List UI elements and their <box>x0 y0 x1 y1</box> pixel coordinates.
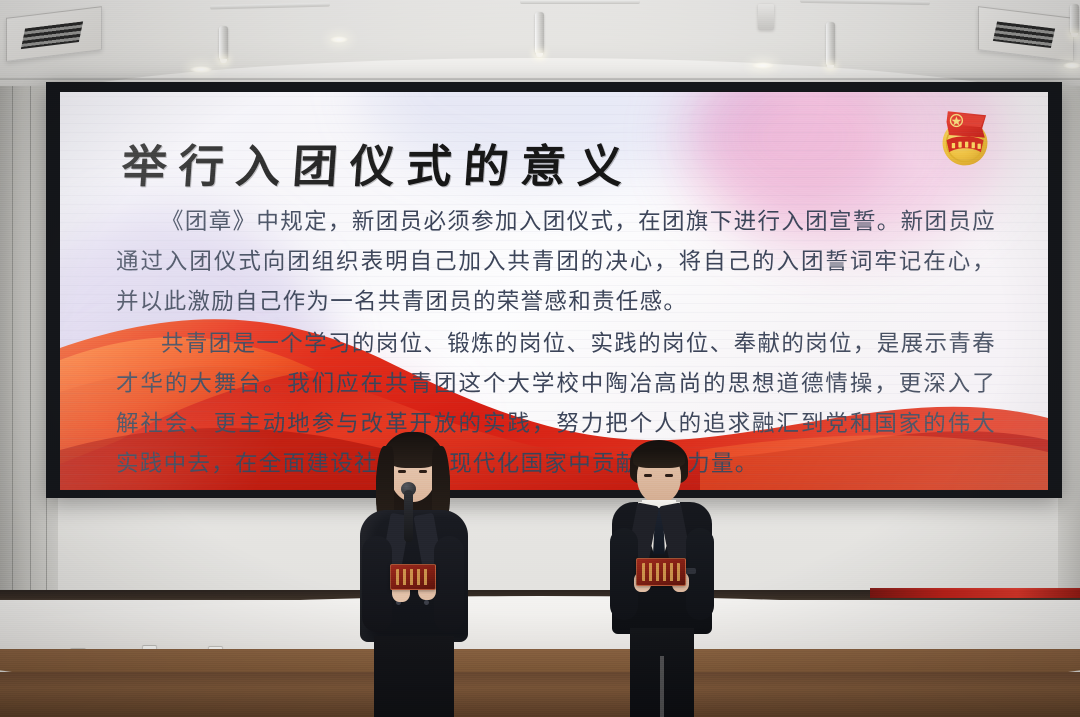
red-membership-card <box>636 558 686 586</box>
microphone-icon <box>404 490 413 542</box>
eye-left <box>398 470 406 473</box>
ceiling-downlight-icon <box>190 66 212 73</box>
ceiling-speaker-icon <box>758 4 774 30</box>
card-gold-text <box>642 563 680 581</box>
arm-right <box>434 536 464 632</box>
ceiling-downlight-icon <box>752 62 774 69</box>
leg-gap <box>660 656 664 717</box>
wall-seam <box>12 86 13 646</box>
track-spotlight-icon <box>535 12 544 54</box>
female-presenter <box>352 432 474 717</box>
eye-right <box>419 470 427 473</box>
vent-grille <box>993 21 1055 48</box>
black-skirt <box>374 636 454 717</box>
arm-right <box>686 528 714 620</box>
track-spotlight-icon <box>1070 4 1079 34</box>
led-screen-display[interactable]: 举行入团仪式的意义 《团章》中规定，新团员必须参加入团仪式，在团旗下进行入团宣誓… <box>60 92 1048 490</box>
stage-floor <box>0 672 1080 717</box>
eye-right <box>665 474 673 477</box>
vent-grille <box>21 21 83 49</box>
eye-left <box>644 474 652 477</box>
slide-title: 举行入团仪式的意义 <box>120 130 638 195</box>
led-screen-bezel: 举行入团仪式的意义 《团章》中规定，新团员必须参加入团仪式，在团旗下进行入团宣誓… <box>46 82 1062 498</box>
hair-fringe <box>633 448 685 468</box>
slide-paragraph-2: 共青团是一个学习的岗位、锻炼的岗位、实践的岗位、奉献的岗位，是展示青春才华的大舞… <box>116 324 996 484</box>
track-spotlight-icon <box>219 26 228 60</box>
coat-button <box>424 600 429 605</box>
communist-youth-league-emblem-icon <box>932 106 998 172</box>
stage-red-accent-strip <box>870 588 1080 598</box>
male-presenter <box>606 440 718 717</box>
arm-left <box>362 536 392 632</box>
slide-wash-pink-2 <box>708 92 898 212</box>
arm-left <box>610 528 638 620</box>
red-membership-card <box>390 564 436 590</box>
slide-paragraph-1: 《团章》中规定，新团员必须参加入团仪式，在团旗下进行入团宣誓。新团员应通过入团仪… <box>116 202 996 322</box>
wall-seam <box>30 86 31 646</box>
track-spotlight-icon <box>826 22 835 66</box>
photo-scene: 举行入团仪式的意义 《团章》中规定，新团员必须参加入团仪式，在团旗下进行入团宣誓… <box>0 0 1080 717</box>
light-rail <box>520 0 640 4</box>
ceiling-downlight-icon <box>330 36 348 43</box>
ceiling-downlight-icon <box>1063 62 1080 69</box>
ceiling-soffit-line <box>0 78 1080 80</box>
slide-body: 《团章》中规定，新团员必须参加入团仪式，在团旗下进行入团宣誓。新团员应通过入团仪… <box>116 202 996 484</box>
card-gold-text <box>396 569 430 585</box>
